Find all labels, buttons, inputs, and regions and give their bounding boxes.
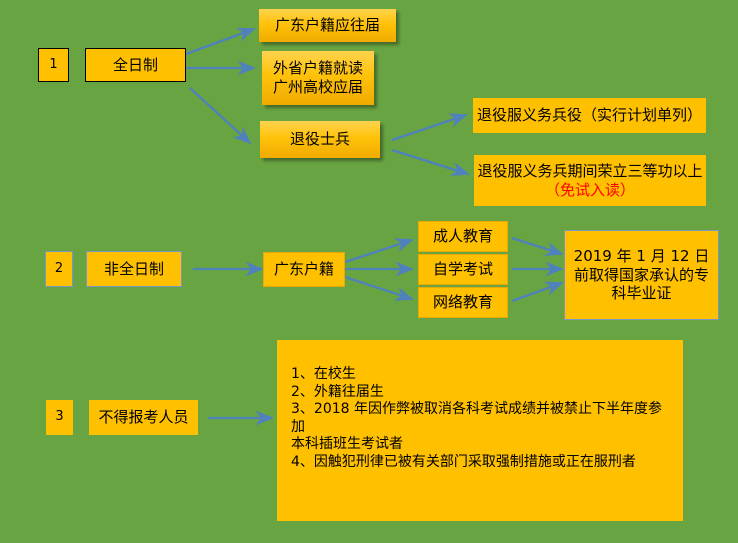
row3-disqualified-list[interactable]: 1、在校生 2、外籍往届生 3、2018 年因作弊被取消各科考试成绩并被禁止下半… <box>277 340 683 521</box>
arrow-hukou-to-online <box>345 277 412 299</box>
arrow-veteran-to-service <box>392 115 466 140</box>
row1-veteran-outcome-merit[interactable]: 退役服义务兵期间荣立三等功以上 （免试入读） <box>474 155 706 206</box>
row2-education-online[interactable]: 网络教育 <box>418 287 508 318</box>
row1-index: 1 <box>38 48 69 82</box>
row2-education-adult[interactable]: 成人教育 <box>418 221 508 252</box>
list-item: 本科插班生考试者 <box>291 436 673 454</box>
row2-index: 2 <box>45 251 73 287</box>
arrow-veteran-to-merit <box>392 150 468 174</box>
arrow-adult-to-req <box>512 238 562 254</box>
row2-requirement-diploma[interactable]: 2019 年 1 月 12 日前取得国家承认的专科毕业证 <box>564 230 719 320</box>
row1-branch-veteran[interactable]: 退役士兵 <box>260 121 380 158</box>
list-item: 2、外籍往届生 <box>291 384 673 402</box>
row2-category-parttime[interactable]: 非全日制 <box>86 251 182 287</box>
list-item: 3、2018 年因作弊被取消各科考试成绩并被禁止下半年度参加 <box>291 401 673 436</box>
merit-note-text: （免试入读） <box>545 181 635 200</box>
row3-category-disqualified[interactable]: 不得报考人员 <box>89 400 198 435</box>
merit-main-text: 退役服义务兵期间荣立三等功以上 <box>477 162 702 181</box>
list-item: 4、因触犯刑律已被有关部门采取强制措施或正在服刑者 <box>291 454 673 472</box>
arrow-fulltime-to-gd <box>186 29 254 54</box>
row2-hukou-guangdong[interactable]: 广东户籍 <box>263 252 345 287</box>
flowchart-canvas: 1 全日制 广东户籍应往届 外省户籍就读 广州高校应届 退役士兵 退役服义务兵役… <box>0 0 738 543</box>
row1-branch-gd-hukou[interactable]: 广东户籍应往届 <box>259 9 396 42</box>
row1-branch-outprovince[interactable]: 外省户籍就读 广州高校应届 <box>262 51 374 105</box>
row1-veteran-outcome-service[interactable]: 退役服义务兵役（实行计划单列） <box>473 98 706 133</box>
arrow-online-to-req <box>512 283 562 301</box>
arrow-fulltime-to-veteran <box>190 88 250 143</box>
arrow-hukou-to-adult <box>345 240 412 262</box>
row1-category-fulltime[interactable]: 全日制 <box>85 48 186 82</box>
row3-index: 3 <box>46 400 73 435</box>
list-item: 1、在校生 <box>291 366 673 384</box>
row2-education-selfstudy[interactable]: 自学考试 <box>418 254 508 285</box>
